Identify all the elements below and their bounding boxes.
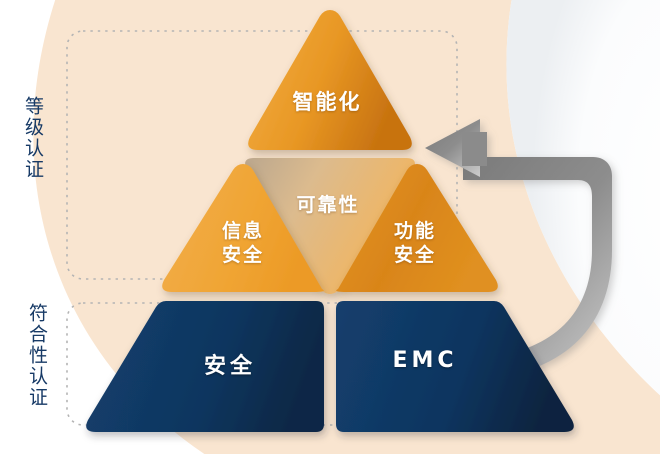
cell-emc[interactable] [336, 301, 574, 432]
side-label-dengji-renzheng: 等级认证 [22, 96, 42, 180]
pyramid-shapes [0, 0, 660, 454]
cell-anquan[interactable] [86, 301, 324, 432]
side-label-fuhexing-renzheng: 符合性认证 [26, 303, 46, 408]
diagram-canvas: 等级认证 符合性认证 智能化 信息 安全 可靠性 功能 安全 安全 EMC [0, 0, 660, 454]
